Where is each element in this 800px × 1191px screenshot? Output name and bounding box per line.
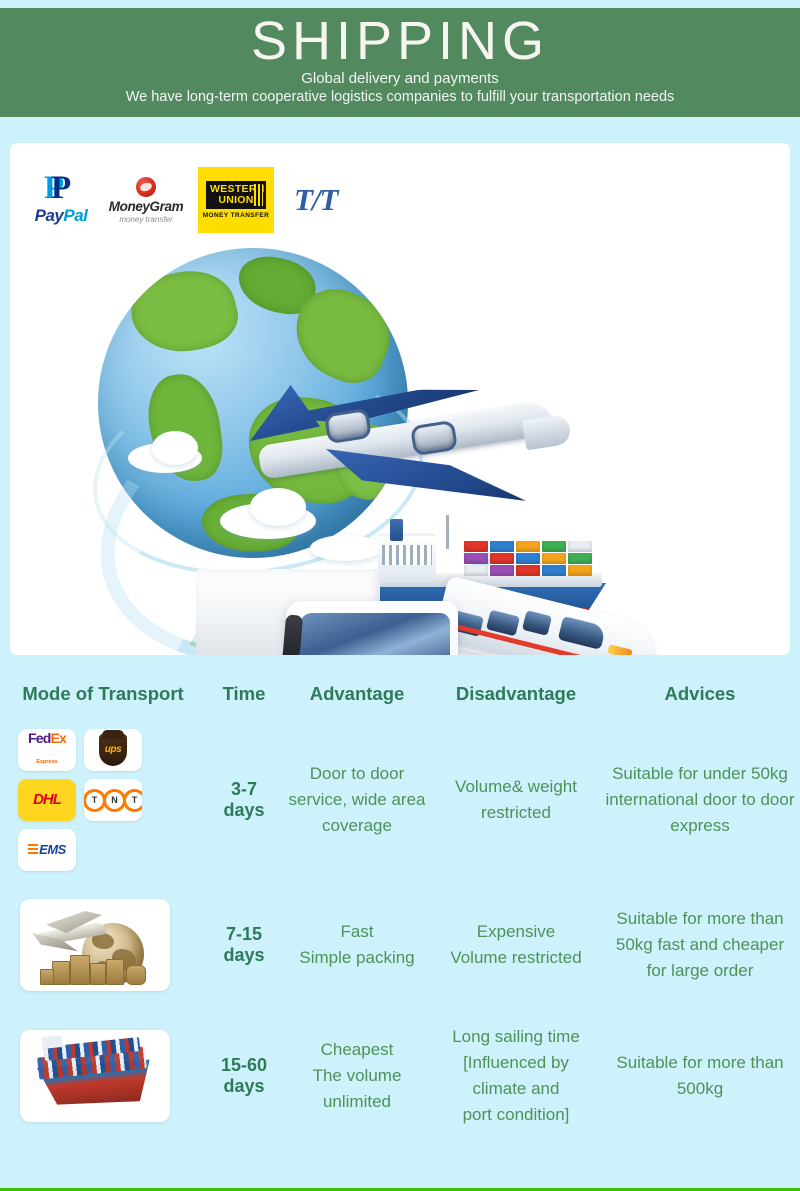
shipping-container <box>568 541 592 552</box>
column-header-advantage: Advantage <box>282 679 432 709</box>
sea-time: 15-60 days <box>206 1053 282 1099</box>
payment-methods-strip: PP PayPal MoneyGram money transfer WESTE… <box>28 167 344 233</box>
tnt-rings-icon: T N T <box>84 789 142 812</box>
sea-disadvantage: Long sailing time [Influenced by climate… <box>432 1022 600 1130</box>
fedex-fed-text: Fed <box>28 730 51 746</box>
air-plane-graphic <box>28 911 114 957</box>
paypal-mark-icon: PP <box>42 175 80 205</box>
airplane-engine <box>410 420 458 457</box>
ems-logo: EMS <box>18 829 76 871</box>
sea-advice: Suitable for more than 500kg <box>600 1048 800 1104</box>
air-time: 7-15 days <box>206 922 282 968</box>
sea-freight-image-cell <box>0 1028 206 1124</box>
ups-logo: ups <box>84 729 142 771</box>
page-header: SHIPPING Global delivery and payments We… <box>0 8 800 117</box>
header-subtitle-2: We have long-term cooperative logistics … <box>0 88 800 107</box>
landmass <box>124 261 244 364</box>
express-time-range: 3-7 <box>210 779 278 800</box>
cargo-box <box>126 965 146 985</box>
sea-disadvantage-line-3: climate and <box>436 1076 596 1102</box>
sea-time-range: 15-60 <box>210 1055 278 1076</box>
express-time: 3-7 days <box>206 777 282 823</box>
air-advantage-line-2: Simple packing <box>286 945 428 971</box>
western-union-bars-icon <box>254 184 263 206</box>
moneygram-wordmark: MoneyGram <box>108 199 184 214</box>
express-disadvantage: Volume& weight restricted <box>432 772 600 828</box>
tt-logo: T/T <box>288 182 344 218</box>
air-disadvantage-line-1: Expensive <box>436 919 596 945</box>
paypal-wordmark: PayPal <box>28 206 94 226</box>
airplane-nose <box>522 414 572 451</box>
cargo-box <box>90 963 106 985</box>
air-freight-image-cell <box>0 897 206 993</box>
express-carrier-logos: FedEx Express ups DHL T N T <box>0 727 206 873</box>
air-advantage: Fast Simple packing <box>282 917 432 973</box>
table-header-row: Mode of Transport Time Advantage Disadva… <box>0 668 800 720</box>
shipping-container <box>542 565 566 576</box>
air-disadvantage: Expensive Volume restricted <box>432 917 600 973</box>
truck-windshield <box>300 613 450 655</box>
ups-wordmark: ups <box>105 737 122 763</box>
cloud-graphic <box>152 431 198 465</box>
sea-disadvantage-line-4: port condition] <box>436 1102 596 1128</box>
table-row: FedEx Express ups DHL T N T <box>0 720 800 880</box>
ems-wordmark: EMS <box>39 837 66 863</box>
ups-shield-icon: ups <box>99 734 127 766</box>
air-advice: Suitable for more than 50kg fast and che… <box>600 904 800 986</box>
air-disadvantage-line-2: Volume restricted <box>436 945 596 971</box>
fedex-express-text: Express <box>28 749 66 771</box>
express-advantage: Door to door service, wide area coverage <box>282 759 432 841</box>
express-advice: Suitable for under 50kg international do… <box>600 759 800 841</box>
tnt-letter: T <box>123 789 142 812</box>
fedex-ex-text: Ex <box>50 730 66 746</box>
column-header-mode: Mode of Transport <box>0 679 206 709</box>
cargo-box <box>40 969 54 985</box>
tnt-logo: T N T <box>84 779 142 821</box>
shipping-comparison-table: Mode of Transport Time Advantage Disadva… <box>0 668 800 1142</box>
column-header-advices: Advices <box>600 679 800 709</box>
hero-illustration-card: PP PayPal MoneyGram money transfer WESTE… <box>10 143 790 655</box>
sea-advantage-line-3: unlimited <box>286 1089 428 1115</box>
ship-superstructure <box>41 1035 62 1049</box>
page-title: SHIPPING <box>0 12 800 70</box>
sea-disadvantage-line-2: [Influenced by <box>436 1050 596 1076</box>
air-freight-icon <box>20 899 170 991</box>
ship-funnel <box>390 519 403 541</box>
express-time-unit: days <box>210 800 278 821</box>
shipping-container <box>568 565 592 576</box>
cargo-box <box>70 955 90 985</box>
ems-mark: EMS <box>28 837 66 863</box>
airplane-wing <box>326 449 526 503</box>
air-time-unit: days <box>210 945 278 966</box>
cargo-box <box>106 959 124 985</box>
table-row: 15-60 days Cheapest The volume unlimited… <box>0 1010 800 1142</box>
shipping-container <box>568 553 592 564</box>
table-row: 7-15 days Fast Simple packing Expensive … <box>0 880 800 1010</box>
paypal-logo: PP PayPal <box>28 175 94 226</box>
header-subtitle-1: Global delivery and payments <box>0 69 800 88</box>
cargo-box <box>52 961 70 985</box>
sea-disadvantage-line-1: Long sailing time <box>436 1024 596 1050</box>
sea-time-unit: days <box>210 1076 278 1097</box>
moneygram-globe-icon <box>136 177 156 197</box>
airplane-graphic <box>206 375 566 535</box>
sea-advantage: Cheapest The volume unlimited <box>282 1035 432 1117</box>
sea-advantage-line-1: Cheapest <box>286 1037 428 1063</box>
column-header-disadvantage: Disadvantage <box>432 679 600 709</box>
fedex-wordmark: FedEx Express <box>28 729 66 771</box>
truck-mirror <box>282 614 303 655</box>
truck-graphic <box>194 541 524 655</box>
air-advantage-line-1: Fast <box>286 919 428 945</box>
column-header-time: Time <box>206 679 282 709</box>
sea-freight-icon <box>20 1030 170 1122</box>
sea-advantage-line-2: The volume <box>286 1063 428 1089</box>
western-union-logo: WESTERN UNION MONEY TRANSFER <box>198 167 274 233</box>
moneygram-tagline: money transfer <box>108 215 184 224</box>
air-time-range: 7-15 <box>210 924 278 945</box>
moneygram-logo: MoneyGram money transfer <box>108 177 184 224</box>
shipping-container <box>542 541 566 552</box>
ems-stripes-icon <box>28 844 38 856</box>
shipping-container <box>542 553 566 564</box>
dhl-wordmark: DHL <box>33 787 61 813</box>
fedex-logo: FedEx Express <box>18 729 76 771</box>
dhl-logo: DHL <box>18 779 76 821</box>
western-union-mark: WESTERN UNION <box>206 181 266 209</box>
western-union-tagline: MONEY TRANSFER <box>203 212 270 219</box>
